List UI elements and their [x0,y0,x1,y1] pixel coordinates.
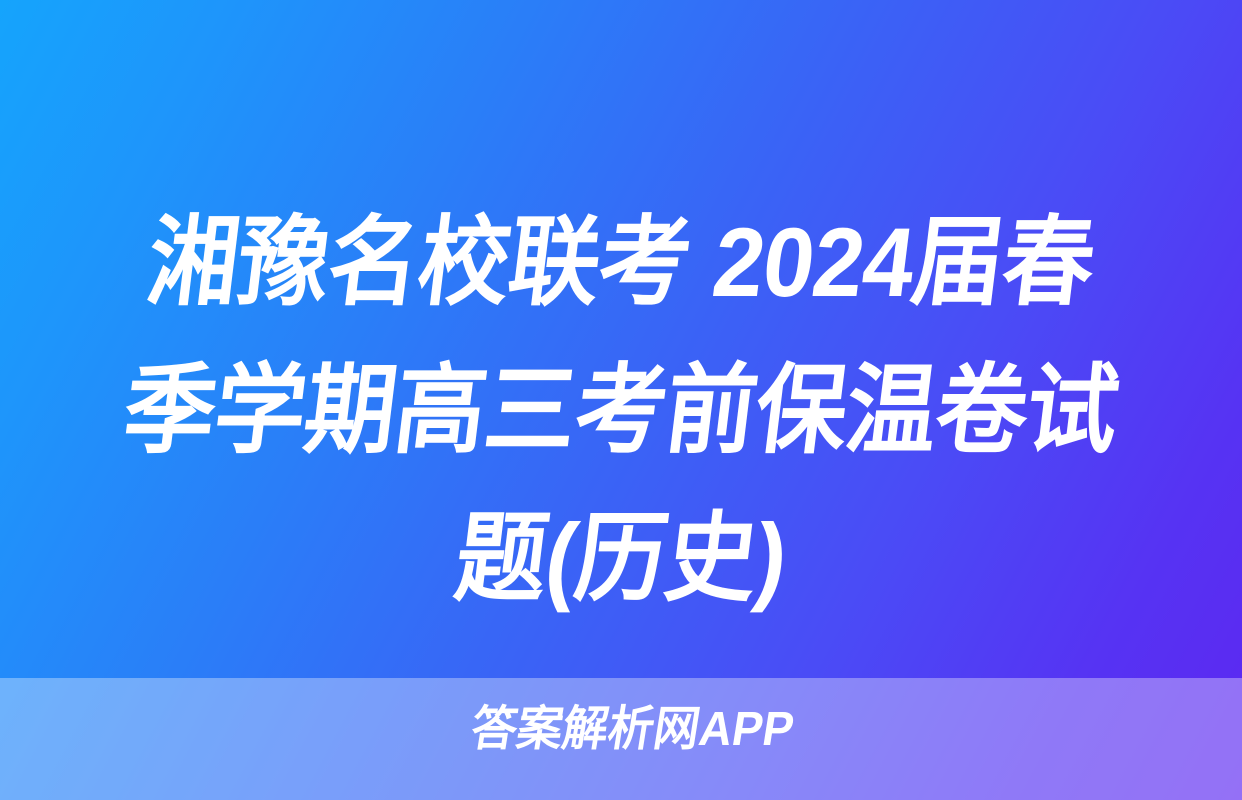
title-line-3: 题(历史) [72,484,1171,632]
page-title: 湘豫名校联考 2024届春 季学期高三考前保温卷试 题(历史) [0,188,1242,632]
title-line-2: 季学期高三考前保温卷试 [72,336,1171,484]
exam-title-card: 湘豫名校联考 2024届春 季学期高三考前保温卷试 题(历史) 答案解析网APP [0,0,1242,800]
watermark-band: 答案解析网APP [0,678,1242,800]
watermark-label: 答案解析网APP [467,702,798,758]
title-line-1: 湘豫名校联考 2024届春 [72,188,1171,336]
